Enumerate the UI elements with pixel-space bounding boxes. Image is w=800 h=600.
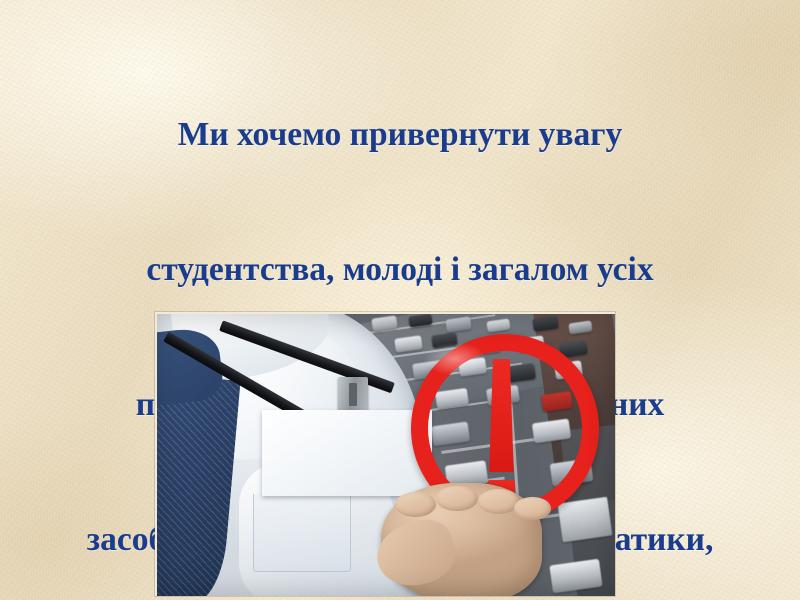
blank-id-badge [262,410,431,496]
exclamation-mark-stem-icon [489,359,514,472]
sign-highlight [423,342,487,376]
knuckle [478,489,519,514]
shirt-pocket [253,494,351,571]
headline-line-1: Ми хочемо привернути увагу [8,112,792,157]
badge-clip-slot [349,383,356,406]
photo-content [157,314,615,596]
headline-line-2: студентства, молоді і загалом усіх [8,247,792,292]
knuckle [436,486,477,511]
knuckle [395,492,436,517]
knuckle [514,497,551,520]
slide-photo [155,312,615,596]
presentation-slide: Ми хочемо привернути увагу студентства, … [0,0,800,600]
vehicle-truck [558,497,613,543]
